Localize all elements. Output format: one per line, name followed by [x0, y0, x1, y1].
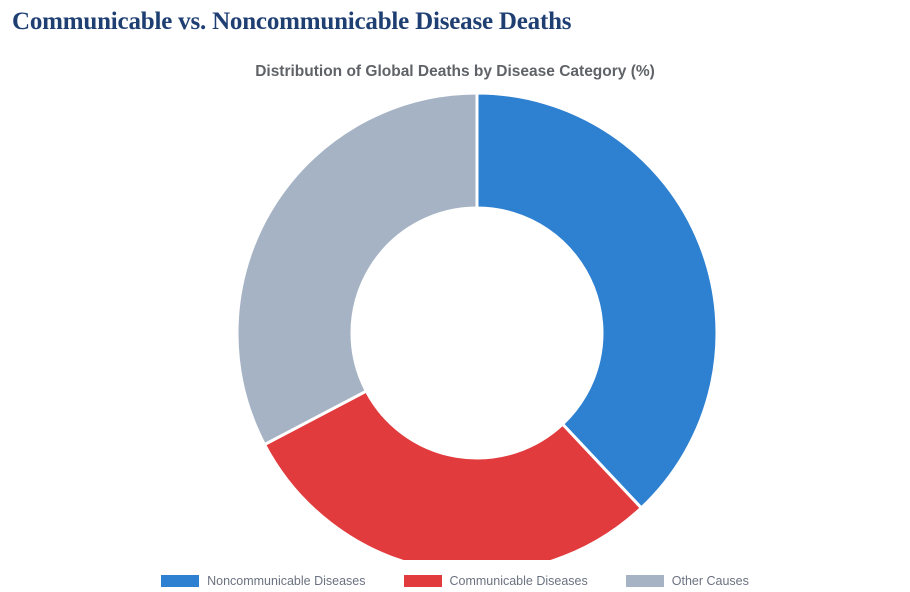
legend-color-swatch: [626, 575, 664, 587]
chart-page: Communicable vs. Noncommunicable Disease…: [0, 0, 910, 592]
donut-chart: Noncommunicable Diseases: 38%Communicabl…: [0, 0, 910, 560]
donut-chart-svg: Noncommunicable Diseases: 38%Communicabl…: [0, 0, 910, 560]
legend-color-swatch: [404, 575, 442, 587]
legend-item[interactable]: Other Causes: [626, 574, 749, 588]
legend-color-swatch: [161, 575, 199, 587]
legend-item[interactable]: Communicable Diseases: [404, 574, 588, 588]
legend-item-label: Noncommunicable Diseases: [207, 574, 365, 588]
donut-slice[interactable]: Noncommunicable Diseases: 38%: [477, 93, 717, 508]
legend-item-label: Other Causes: [672, 574, 749, 588]
donut-slice-group: Noncommunicable Diseases: 38%Communicabl…: [237, 93, 717, 560]
legend-item[interactable]: Noncommunicable Diseases: [161, 574, 365, 588]
donut-slice[interactable]: Other Causes: 32.7%: [237, 93, 477, 445]
legend-item-label: Communicable Diseases: [450, 574, 588, 588]
chart-legend: Noncommunicable DiseasesCommunicable Dis…: [0, 570, 910, 592]
